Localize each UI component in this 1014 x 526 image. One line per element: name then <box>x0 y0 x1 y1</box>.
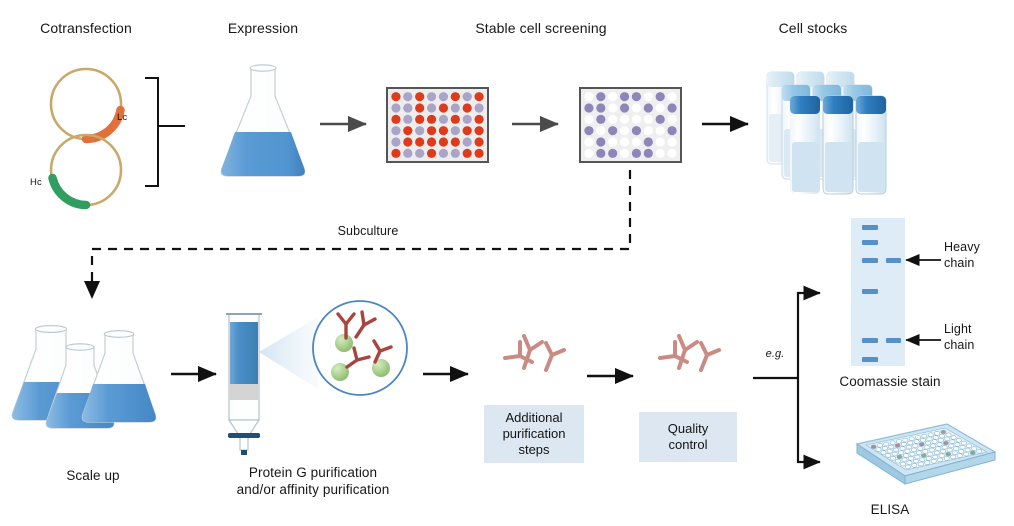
plate-well <box>608 126 617 135</box>
plasmid-label-hc: Hc <box>30 177 42 189</box>
plate-well <box>620 149 629 158</box>
plate-well <box>391 126 400 135</box>
plate-well <box>463 149 472 158</box>
plate-well <box>608 115 617 124</box>
plate-well <box>439 92 448 101</box>
plate-well <box>403 126 412 135</box>
plate-well <box>415 137 424 146</box>
plate-well <box>584 115 593 124</box>
plate-well <box>415 103 424 112</box>
plate-well <box>474 103 483 112</box>
plate-well <box>584 126 593 135</box>
plate-2-wells <box>584 92 676 158</box>
plate-well <box>656 92 665 101</box>
header-cotransfection: Cotransfection <box>40 20 132 37</box>
plate-well <box>608 137 617 146</box>
plate-well <box>667 137 676 146</box>
plate-well <box>667 103 676 112</box>
plate-well <box>656 126 665 135</box>
plate-well <box>632 137 641 146</box>
plate-1-wells <box>391 92 483 158</box>
plate-well <box>474 92 483 101</box>
plate-well <box>644 149 653 158</box>
heavy-chain-label-line1: Heavy <box>944 240 980 255</box>
elisa-label: ELISA <box>871 502 910 518</box>
plate-well <box>415 149 424 158</box>
plate-well <box>463 92 472 101</box>
plate-well <box>463 137 472 146</box>
plate-well <box>415 126 424 135</box>
plate-well <box>391 137 400 146</box>
purification-label-line1: Protein G purification <box>249 465 377 481</box>
plate-well <box>596 137 605 146</box>
plate-well <box>403 137 412 146</box>
plate-well <box>596 103 605 112</box>
light-chain-label-line2: chain <box>944 338 974 353</box>
step-line-1: Additional <box>503 410 566 426</box>
plate-well <box>608 149 617 158</box>
qc-line-2: control <box>668 437 708 453</box>
plate-well <box>391 103 400 112</box>
plate-well <box>584 103 593 112</box>
plate-well <box>584 137 593 146</box>
plate-well <box>451 103 460 112</box>
plate-well <box>463 115 472 124</box>
plate-well <box>451 149 460 158</box>
plate-well <box>474 115 483 124</box>
plate-well <box>667 115 676 124</box>
plate-well <box>632 92 641 101</box>
plate-well <box>391 149 400 158</box>
plate-well <box>427 149 436 158</box>
plate-well <box>451 92 460 101</box>
plate-well <box>415 92 424 101</box>
plate-well <box>632 126 641 135</box>
plate-well <box>474 149 483 158</box>
plate-well <box>403 115 412 124</box>
light-chain-label-line1: Light <box>944 322 972 337</box>
plate-well <box>391 115 400 124</box>
plate-well <box>632 115 641 124</box>
plate-well <box>403 92 412 101</box>
plate-well <box>644 137 653 146</box>
plate-well <box>403 149 412 158</box>
plate-well <box>620 115 629 124</box>
step-line-3: steps <box>503 442 566 458</box>
step-line-2: purification <box>503 426 566 442</box>
plate-well <box>667 92 676 101</box>
plate-well <box>656 149 665 158</box>
plate-well <box>644 126 653 135</box>
plate-well <box>439 126 448 135</box>
plate-well <box>463 103 472 112</box>
plate-well <box>667 126 676 135</box>
step-quality-control: Quality control <box>639 412 737 462</box>
plate-well <box>584 149 593 158</box>
plate-well <box>644 103 653 112</box>
plate-well <box>427 103 436 112</box>
plate-well <box>620 103 629 112</box>
plate-well <box>584 92 593 101</box>
plate-well <box>427 92 436 101</box>
plate-well <box>620 126 629 135</box>
plate-well <box>427 115 436 124</box>
plasmid-label-lc: Lc <box>117 112 127 124</box>
subculture-label: Subculture <box>338 224 399 239</box>
plate-well <box>596 115 605 124</box>
plate-well <box>451 137 460 146</box>
plate-well <box>608 103 617 112</box>
heavy-chain-label-line2: chain <box>944 256 974 271</box>
scale-up-label: Scale up <box>66 468 119 484</box>
workflow-diagram: Cotransfection Expression Stable cell sc… <box>0 0 1014 526</box>
plate-well <box>596 92 605 101</box>
plate-well <box>656 103 665 112</box>
qc-line-1: Quality <box>668 421 708 437</box>
plate-well <box>439 115 448 124</box>
plate-well <box>596 126 605 135</box>
plate-well <box>632 149 641 158</box>
plate-well <box>656 137 665 146</box>
header-stable-cell-screening: Stable cell screening <box>475 20 606 37</box>
header-cell-stocks: Cell stocks <box>779 20 848 37</box>
plate-well <box>427 126 436 135</box>
plate-well <box>620 137 629 146</box>
plate-well <box>439 103 448 112</box>
header-expression: Expression <box>228 20 298 37</box>
purification-label-line2: and/or affinity purification <box>237 482 390 498</box>
plate-well <box>474 126 483 135</box>
plate-well <box>439 137 448 146</box>
plate-well <box>391 92 400 101</box>
plate-well <box>644 92 653 101</box>
plate-well <box>427 137 436 146</box>
plate-well <box>403 103 412 112</box>
plate-well <box>439 149 448 158</box>
coomassie-stain-label: Coomassie stain <box>839 374 940 390</box>
plate-well <box>656 115 665 124</box>
plate-well <box>620 92 629 101</box>
plate-well <box>474 137 483 146</box>
plate-well <box>463 126 472 135</box>
plate-well <box>451 126 460 135</box>
plate-well <box>644 115 653 124</box>
plate-well <box>608 92 617 101</box>
plate-well <box>451 115 460 124</box>
plate-well <box>632 103 641 112</box>
plate-well <box>415 115 424 124</box>
eg-label: e.g. <box>766 348 785 361</box>
plate-well <box>596 149 605 158</box>
step-additional-purification: Additional purification steps <box>484 405 584 463</box>
plate-well <box>667 149 676 158</box>
